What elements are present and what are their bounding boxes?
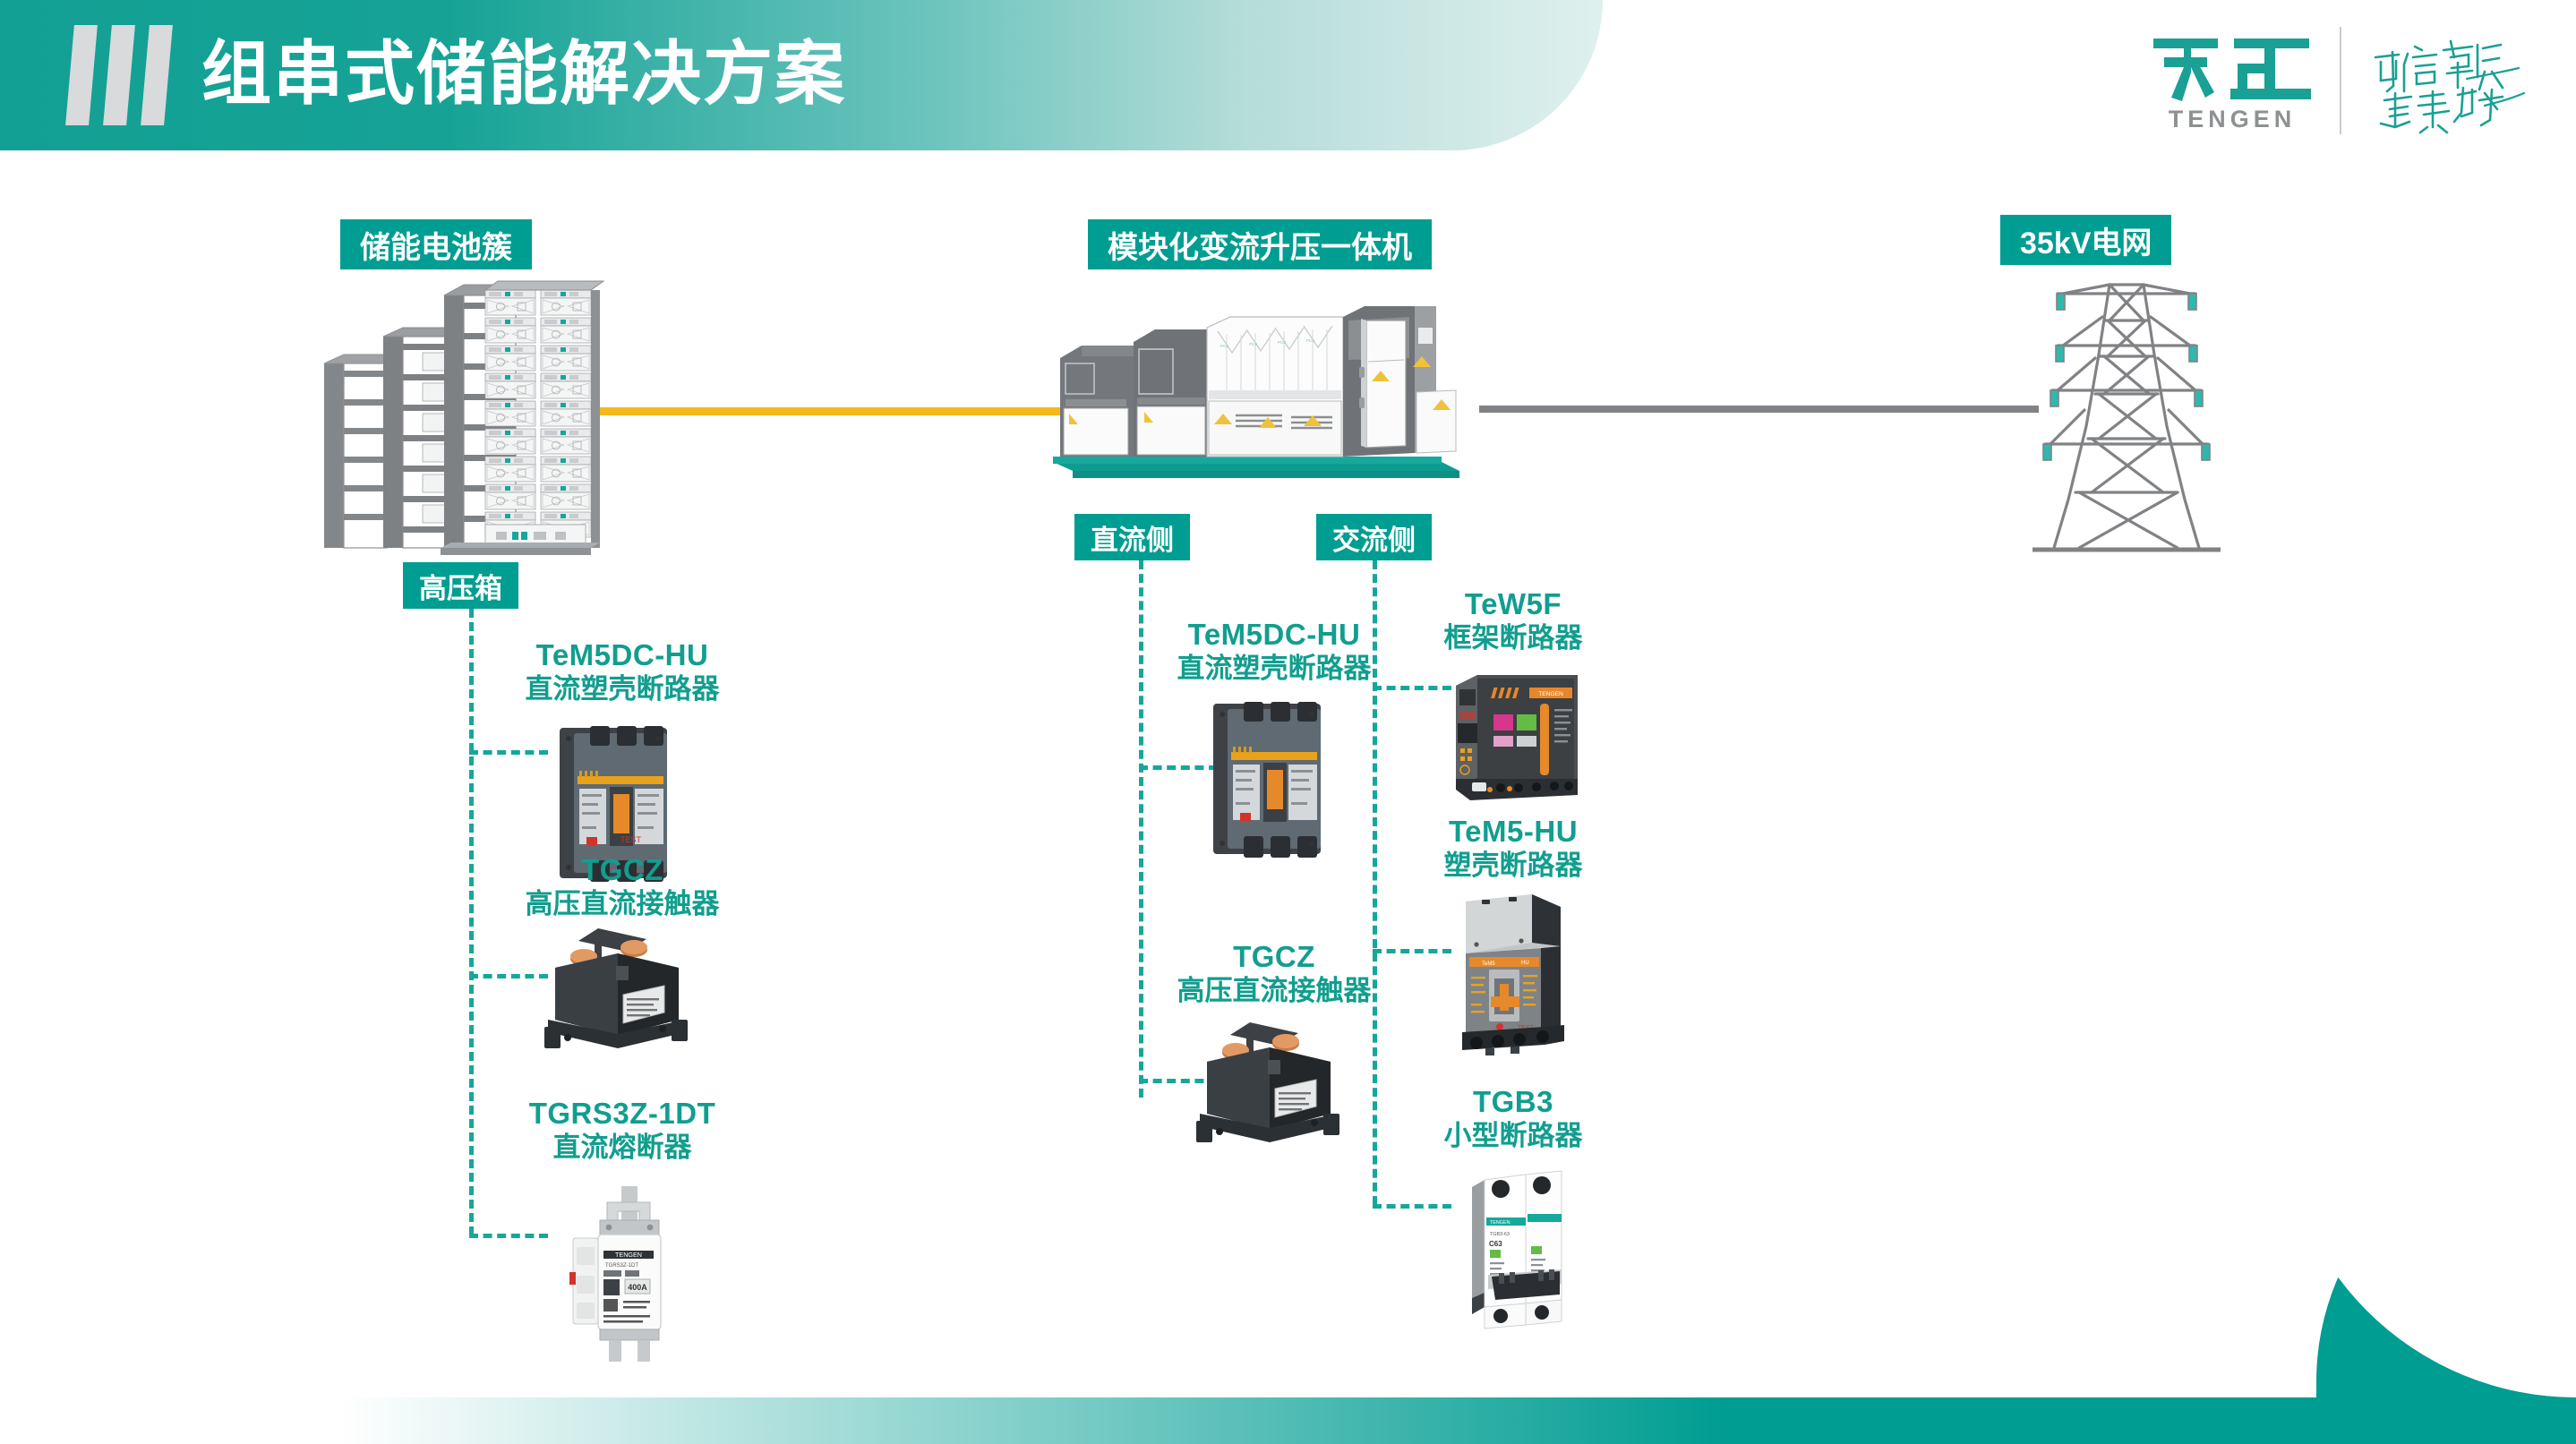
handwritten-slogan-icon: [2368, 27, 2538, 134]
page-header: 组串式储能解决方案: [0, 0, 1603, 150]
ac-side-branch-2: [1373, 949, 1451, 953]
hv-box-branch-3: [469, 1234, 548, 1238]
product-label-tgcz-hv: TGCZ 高压直流接触器: [519, 853, 725, 921]
dc-side-trunk-line: [1139, 560, 1143, 1098]
page-title: 组串式储能解决方案: [201, 20, 846, 127]
svg-text:TENGEN: TENGEN: [1490, 1220, 1511, 1226]
svg-text:TEST: TEST: [620, 835, 642, 844]
dc-contactor-icon: [1180, 1021, 1350, 1159]
brand-name-en: TENGEN: [2169, 106, 2297, 133]
svg-text:PCS: PCS: [1306, 338, 1314, 343]
badge-ac-side: 交流侧: [1316, 514, 1432, 560]
product-label-tgb3: TGB3 小型断路器: [1410, 1085, 1616, 1153]
product-label-tem5dc-hu-dc: TeM5DC-HU 直流塑壳断路器: [1144, 618, 1404, 686]
svg-text:PCS: PCS: [1220, 344, 1228, 348]
badge-battery-cluster: 储能电池簇: [340, 219, 532, 269]
brand-divider: [2340, 27, 2341, 134]
footer-band: [340, 1397, 2576, 1444]
ac-bus-line: [1479, 406, 2039, 413]
three-bars-icon: [70, 25, 168, 125]
product-label-tgrs3z-1dt: TGRS3Z-1DT 直流熔断器: [519, 1097, 725, 1165]
svg-text:TGB3-63: TGB3-63: [1490, 1232, 1510, 1237]
badge-modular-converter: 模块化变流升压一体机: [1088, 219, 1432, 269]
ac-side-trunk-line: [1373, 560, 1377, 1205]
mcb-rating-text: C63: [1489, 1240, 1502, 1248]
svg-text:TeM5: TeM5: [1482, 961, 1495, 967]
svg-text:HU: HU: [1521, 961, 1529, 966]
dc-fuse-icon: TENGEN TGRS3Z-1DT 400A: [553, 1184, 688, 1368]
badge-35kv-grid: 35kV电网: [2000, 215, 2171, 265]
dc-bus-line: [591, 407, 1065, 415]
mcb-icon: TENGEN TGB3-63 C63: [1459, 1164, 1576, 1334]
product-label-tem5-hu: TeM5-HU 塑壳断路器: [1410, 815, 1616, 883]
svg-text:PCS: PCS: [1249, 342, 1257, 346]
tengen-cn-logo-icon: [2152, 28, 2313, 103]
badge-hv-box: 高压箱: [403, 562, 518, 609]
product-label-tgcz-dc: TGCZ 高压直流接触器: [1144, 940, 1404, 1008]
ac-side-branch-1: [1373, 686, 1451, 690]
badge-dc-side: 直流侧: [1074, 514, 1190, 560]
fuse-rating-text: 400A: [628, 1283, 647, 1292]
dc-contactor-icon: [528, 927, 698, 1065]
svg-text:TGRS3Z-1DT: TGRS3Z-1DT: [605, 1263, 638, 1269]
hv-box-trunk-line: [469, 609, 474, 1235]
svg-text:TENGEN: TENGEN: [1538, 691, 1563, 697]
dc-mccb-icon: [1204, 696, 1348, 867]
mccb-icon: TeM5 HU TEST: [1455, 891, 1580, 1065]
tengen-logo: TENGEN: [2152, 28, 2313, 133]
svg-text:PCS: PCS: [1278, 340, 1286, 345]
brand-logo-group: TENGEN: [2152, 18, 2538, 143]
hv-box-branch-1: [469, 750, 548, 755]
acb-icon: TENGEN: [1451, 664, 1585, 807]
ac-side-branch-3: [1373, 1204, 1451, 1209]
transmission-tower-icon: [2033, 269, 2221, 555]
fuse-brand-text: TENGEN: [615, 1251, 642, 1259]
product-label-tem5dc-hu-hv: TeM5DC-HU 直流塑壳断路器: [519, 638, 725, 706]
product-label-tew5f: TeW5F 框架断路器: [1410, 587, 1616, 655]
battery-rack-icon: [321, 278, 607, 555]
container-converter-icon: PCSPCS PCSPCS: [1048, 304, 1473, 492]
